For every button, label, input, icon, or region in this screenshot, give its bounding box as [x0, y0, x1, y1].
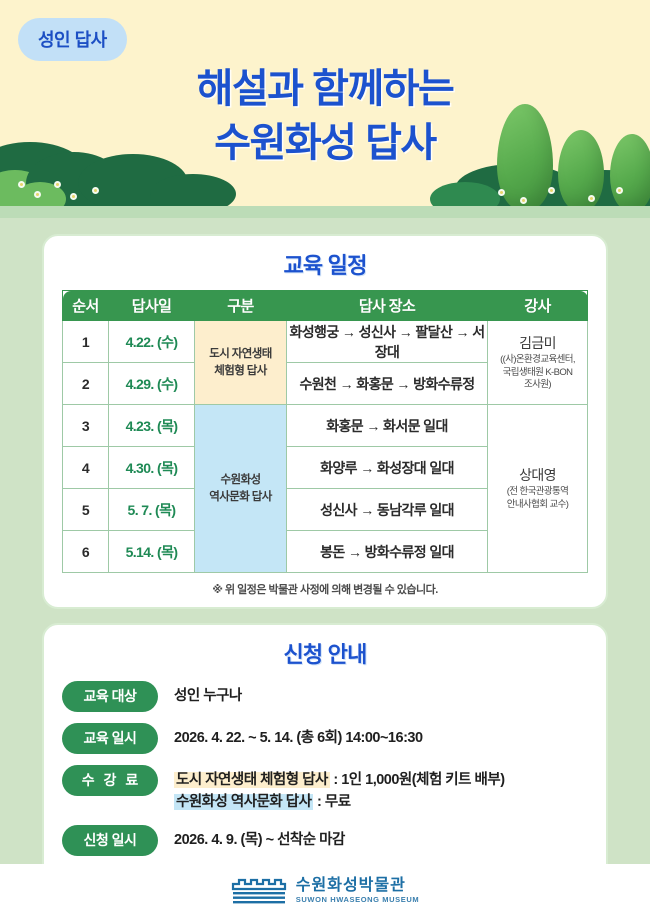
- cell-place: 봉돈 → 방화수류정 일대: [287, 531, 488, 573]
- flower-icon: [54, 181, 61, 188]
- table-row: 1 4.22. (수) 도시 자연생태 체험형 답사 화성행궁 → 성신사 → …: [63, 321, 588, 363]
- value-apply-date: 2026. 4. 9. (목) ~ 선착순 마감: [158, 825, 588, 851]
- cell-place: 화홍문 → 화서문 일대: [287, 405, 488, 447]
- title-line-2: 수원화성 답사: [0, 116, 650, 170]
- schedule-note: ※ 위 일정은 박물관 사정에 의해 변경될 수 있습니다.: [62, 581, 588, 597]
- teacher-desc-3: 조사원): [490, 379, 585, 392]
- apply-title: 신청 안내: [62, 637, 588, 669]
- table-row: 3 4.23. (목) 수원화성 역사문화 답사 화홍문 → 화서문 일대 상대…: [63, 405, 588, 447]
- flower-icon: [92, 187, 99, 194]
- col-header-place: 답사 장소: [287, 291, 488, 321]
- cell-no: 2: [63, 363, 109, 405]
- cell-no: 5: [63, 489, 109, 531]
- fee-eco-rest: : 1인 1,000원(체험 키트 배부): [330, 772, 505, 788]
- cell-teacher-sang: 상대영 (전 한국관광통역 안내사협회 교수): [488, 405, 588, 573]
- cell-date: 4.30. (목): [109, 447, 195, 489]
- teacher-desc-1: (전 한국관광통역: [490, 486, 585, 499]
- flower-icon: [520, 197, 527, 204]
- info-row-apply-date: 신청 일시 2026. 4. 9. (목) ~ 선착순 마감: [62, 825, 588, 856]
- fee-history-highlight: 수원화성 역사문화 답사: [174, 794, 313, 810]
- schedule-title: 교육 일정: [62, 248, 588, 280]
- teacher-desc-2: 안내사협회 교수): [490, 499, 585, 512]
- cell-date: 4.23. (목): [109, 405, 195, 447]
- title-line-1: 해설과 함께하는: [197, 67, 454, 111]
- info-row-datetime: 교육 일시 2026. 4. 22. ~ 5. 14. (총 6회) 14:00…: [62, 723, 588, 754]
- flower-icon: [588, 195, 595, 202]
- label-datetime: 교육 일시: [62, 723, 158, 754]
- col-header-group: 구분: [195, 291, 287, 321]
- flower-icon: [498, 189, 505, 196]
- audience-badge: 성인 답사: [18, 18, 127, 61]
- flower-icon: [18, 181, 25, 188]
- teacher-desc-2: 국립생태원 K-BON: [490, 367, 585, 380]
- flower-icon: [548, 187, 555, 194]
- flower-icon: [34, 191, 41, 198]
- cell-group-eco: 도시 자연생태 체험형 답사: [195, 321, 287, 405]
- cell-place: 화성행궁 → 성신사 → 팔달산 → 서장대: [287, 321, 488, 363]
- value-fee: 도시 자연생태 체험형 답사 : 1인 1,000원(체험 키트 배부) 수원화…: [158, 765, 588, 814]
- cell-no: 1: [63, 321, 109, 363]
- teacher-name: 김금미: [490, 333, 585, 354]
- cell-teacher-kim: 김금미 ((사)온환경교육센터, 국립생태원 K-BON 조사원): [488, 321, 588, 405]
- museum-logo-icon: [231, 876, 287, 906]
- col-header-teacher: 강사: [488, 291, 588, 321]
- page-title: 해설과 함께하는 수원화성 답사: [0, 62, 650, 170]
- cell-place: 수원천 → 화홍문 → 방화수류정: [287, 363, 488, 405]
- footer: 수원화성박물관 SUWON HWASEONG MUSEUM: [0, 864, 650, 918]
- value-target: 성인 누구나: [158, 681, 588, 707]
- cell-no: 3: [63, 405, 109, 447]
- cell-date: 4.29. (수): [109, 363, 195, 405]
- info-row-fee: 수 강 료 도시 자연생태 체험형 답사 : 1인 1,000원(체험 키트 배…: [62, 765, 588, 814]
- fee-line-history: 수원화성 역사문화 답사 : 무료: [174, 791, 588, 813]
- group-line-1: 수원화성: [221, 474, 261, 486]
- cell-date: 5. 7. (목): [109, 489, 195, 531]
- cell-place: 성신사 → 동남각루 일대: [287, 489, 488, 531]
- cell-no: 4: [63, 447, 109, 489]
- info-row-target: 교육 대상 성인 누구나: [62, 681, 588, 712]
- cell-place: 화양루 → 화성장대 일대: [287, 447, 488, 489]
- poster: 성인 답사 해설과 함께하는 수원화성 답사: [0, 0, 650, 918]
- fee-line-eco: 도시 자연생태 체험형 답사 : 1인 1,000원(체험 키트 배부): [174, 769, 588, 791]
- label-target: 교육 대상: [62, 681, 158, 712]
- flower-icon: [616, 187, 623, 194]
- col-header-date: 답사일: [109, 291, 195, 321]
- cell-date: 4.22. (수): [109, 321, 195, 363]
- schedule-table: 순서 답사일 구분 답사 장소 강사 1 4.22. (수) 도시 자연생태 체…: [62, 290, 588, 573]
- group-line-2: 역사문화 답사: [209, 491, 271, 503]
- label-apply-date: 신청 일시: [62, 825, 158, 856]
- fee-eco-highlight: 도시 자연생태 체험형 답사: [174, 772, 330, 788]
- cell-date: 5.14. (목): [109, 531, 195, 573]
- museum-name-ko: 수원화성박물관: [296, 878, 419, 894]
- col-header-no: 순서: [63, 291, 109, 321]
- cell-no: 6: [63, 531, 109, 573]
- label-fee: 수 강 료: [62, 765, 158, 796]
- schedule-card: 교육 일정 순서 답사일 구분 답사 장소 강사 1 4.22. (수): [42, 234, 608, 609]
- group-line-2: 체험형 답사: [214, 365, 267, 377]
- value-datetime: 2026. 4. 22. ~ 5. 14. (총 6회) 14:00~16:30: [158, 723, 588, 749]
- museum-name-en: SUWON HWASEONG MUSEUM: [296, 896, 419, 904]
- fee-history-rest: : 무료: [313, 794, 350, 810]
- flower-icon: [70, 193, 77, 200]
- table-header-row: 순서 답사일 구분 답사 장소 강사: [63, 291, 588, 321]
- ground-strip: [0, 206, 650, 218]
- group-line-1: 도시 자연생태: [209, 348, 271, 360]
- museum-logo-text: 수원화성박물관 SUWON HWASEONG MUSEUM: [296, 878, 419, 904]
- cell-group-history: 수원화성 역사문화 답사: [195, 405, 287, 573]
- hero-banner: 성인 답사 해설과 함께하는 수원화성 답사: [0, 0, 650, 218]
- teacher-desc-1: ((사)온환경교육센터,: [490, 354, 585, 367]
- teacher-name: 상대영: [490, 465, 585, 486]
